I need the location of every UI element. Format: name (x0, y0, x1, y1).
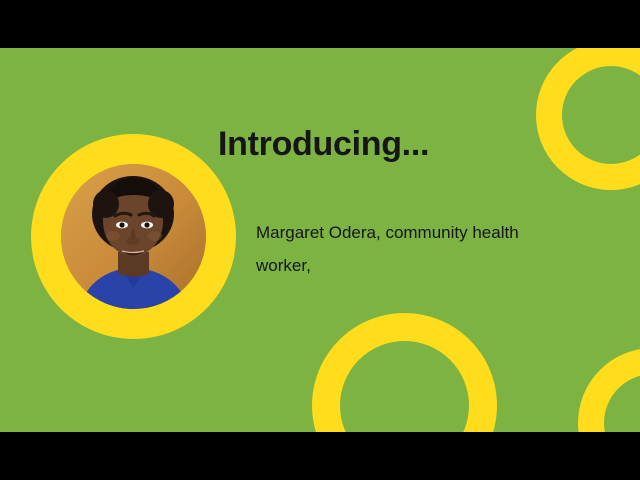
slide-body-text: Margaret Odera, community health worker, (256, 216, 596, 282)
slide-headline: Introducing... (218, 126, 598, 163)
slide-body-line-1: Margaret Odera, community health (256, 216, 596, 249)
avatar-photo (61, 164, 206, 309)
video-frame: Introducing... Margaret Odera, community… (0, 0, 640, 480)
letterbox-bottom-bar (0, 432, 640, 480)
slide-canvas: Introducing... Margaret Odera, community… (0, 48, 640, 432)
avatar (31, 134, 236, 339)
ring-bottom-center-decoration (312, 313, 497, 432)
ring-top-right-decoration (536, 48, 640, 190)
ring-bottom-right-decoration (578, 348, 640, 432)
letterbox-top-bar (0, 0, 640, 48)
slide-body-line-2: worker, (256, 249, 596, 282)
